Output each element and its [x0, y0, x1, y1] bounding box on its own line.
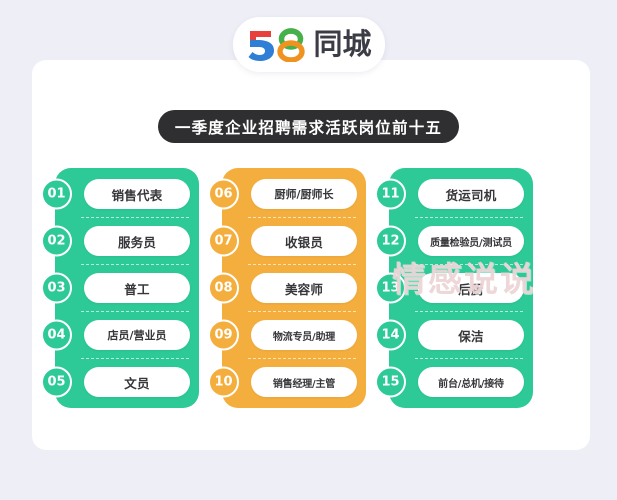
page-title: 一季度企业招聘需求活跃岗位前十五	[175, 116, 442, 138]
job-title-label: 后厨	[458, 279, 483, 298]
brand-name-text: 同城	[313, 30, 371, 59]
rank-badge: 03	[41, 273, 72, 304]
logo-58-mark-icon	[246, 28, 308, 62]
job-pill[interactable]: 美容师	[251, 273, 357, 303]
rank-badge: 09	[208, 320, 239, 351]
list-item[interactable]: 15 前台/总机/接待	[389, 364, 533, 400]
job-title-label: 质量检验员/测试员	[430, 234, 512, 249]
ranking-column-2: 06 厨师/厨师长 07 收银员 08 美容师 09 物流专员	[222, 168, 366, 408]
page-title-banner: 一季度企业招聘需求活跃岗位前十五	[158, 110, 459, 143]
list-item[interactable]: 09 物流专员/助理	[222, 317, 366, 353]
list-item[interactable]: 11 货运司机	[389, 176, 533, 212]
job-pill[interactable]: 文员	[84, 367, 190, 397]
list-item[interactable]: 01 销售代表	[55, 176, 199, 212]
list-item[interactable]: 02 服务员	[55, 223, 199, 259]
job-pill[interactable]: 质量检验员/测试员	[418, 226, 524, 256]
job-title-label: 前台/总机/接待	[438, 375, 504, 390]
list-item[interactable]: 14 保洁	[389, 317, 533, 353]
job-pill[interactable]: 前台/总机/接待	[418, 367, 524, 397]
list-item[interactable]: 06 厨师/厨师长	[222, 176, 366, 212]
list-item[interactable]: 13 后厨	[389, 270, 533, 306]
job-title-label: 物流专员/助理	[273, 328, 335, 343]
job-title-label: 收银员	[285, 232, 323, 251]
rank-badge: 13	[375, 273, 406, 304]
list-item[interactable]: 04 店员/营业员	[55, 317, 199, 353]
rank-badge: 12	[375, 226, 406, 257]
ranking-column-1: 01 销售代表 02 服务员 03 普工 04 店员/营业员	[55, 168, 199, 408]
rank-badge: 06	[208, 179, 239, 210]
list-item[interactable]: 08 美容师	[222, 270, 366, 306]
job-title-label: 店员/营业员	[107, 327, 166, 343]
rank-badge: 10	[208, 367, 239, 398]
ranking-column-3: 11 货运司机 12 质量检验员/测试员 13 后厨 14 保	[389, 168, 533, 408]
job-title-label: 厨师/厨师长	[274, 186, 333, 202]
job-pill[interactable]: 店员/营业员	[84, 320, 190, 350]
rank-badge: 04	[41, 320, 72, 351]
job-pill[interactable]: 服务员	[84, 226, 190, 256]
job-pill[interactable]: 后厨	[418, 273, 524, 303]
job-title-label: 货运司机	[446, 185, 497, 204]
rank-badge: 15	[375, 367, 406, 398]
job-pill[interactable]: 普工	[84, 273, 190, 303]
job-pill[interactable]: 保洁	[418, 320, 524, 350]
job-pill[interactable]: 销售经理/主管	[251, 367, 357, 397]
rank-badge: 05	[41, 367, 72, 398]
rank-badge: 01	[41, 179, 72, 210]
job-title-label: 普工	[124, 279, 149, 298]
job-pill[interactable]: 物流专员/助理	[251, 320, 357, 350]
rank-badge: 08	[208, 273, 239, 304]
list-item[interactable]: 12 质量检验员/测试员	[389, 223, 533, 259]
list-item[interactable]: 10 销售经理/主管	[222, 364, 366, 400]
list-item[interactable]: 07 收银员	[222, 223, 366, 259]
list-item[interactable]: 05 文员	[55, 364, 199, 400]
job-pill[interactable]: 销售代表	[84, 179, 190, 209]
job-pill[interactable]: 收银员	[251, 226, 357, 256]
brand-logo-badge: 同城	[233, 17, 385, 72]
rank-badge: 02	[41, 226, 72, 257]
job-pill[interactable]: 厨师/厨师长	[251, 179, 357, 209]
job-title-label: 文员	[124, 373, 149, 392]
rank-badge: 07	[208, 226, 239, 257]
list-item[interactable]: 03 普工	[55, 270, 199, 306]
job-title-label: 销售经理/主管	[273, 375, 335, 390]
job-title-label: 服务员	[118, 232, 156, 251]
job-pill[interactable]: 货运司机	[418, 179, 524, 209]
rank-badge: 11	[375, 179, 406, 210]
rank-badge: 14	[375, 320, 406, 351]
job-title-label: 保洁	[458, 326, 483, 345]
job-title-label: 美容师	[285, 279, 323, 298]
job-title-label: 销售代表	[112, 185, 163, 204]
brand-logo: 同城	[246, 28, 371, 62]
